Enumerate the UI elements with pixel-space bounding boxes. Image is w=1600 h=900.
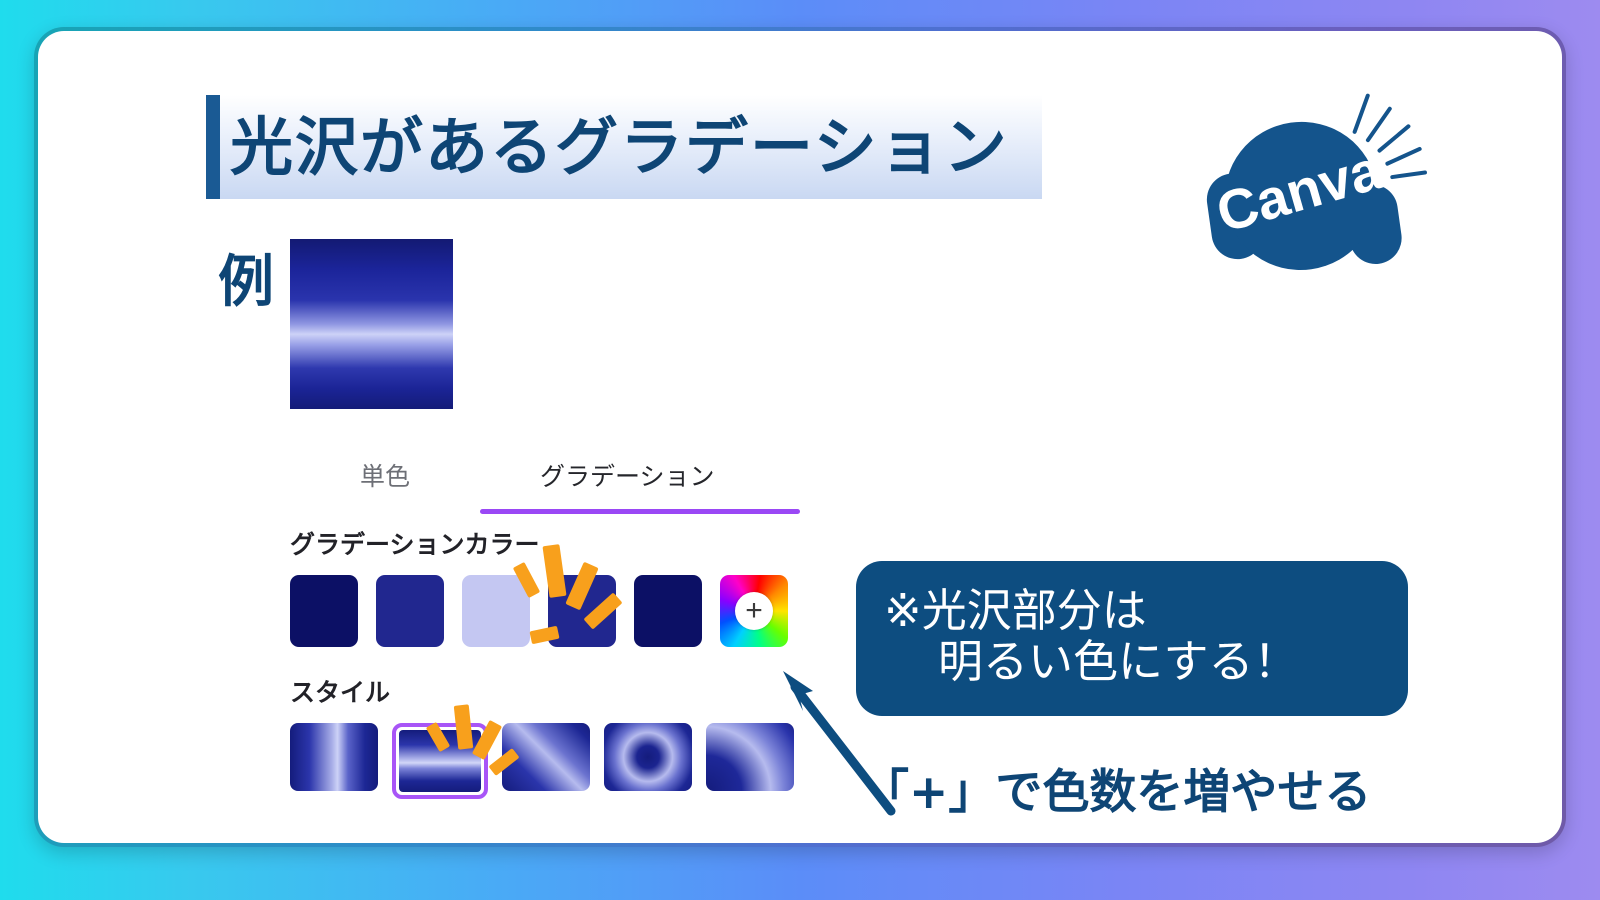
add-color-button[interactable]: +	[720, 575, 788, 647]
gradient-panel: 単色 グラデーション グラデーションカラー + スタイル	[290, 449, 810, 799]
style-label: スタイル	[290, 673, 810, 709]
bottom-note: 「+」で色数を増やせる	[862, 753, 1371, 822]
tab-active-underline	[480, 509, 800, 514]
callout-box: ※光沢部分は 明るい色にする！	[856, 561, 1408, 716]
color-swatch-3[interactable]	[462, 575, 530, 647]
gradient-style-thumbnails	[290, 723, 810, 799]
gradient-color-label: グラデーションカラー	[290, 525, 810, 561]
tab-solid-color[interactable]: 単色	[360, 457, 410, 493]
callout-line-1: ※光沢部分は	[856, 586, 1408, 636]
color-swatch-1[interactable]	[290, 575, 358, 647]
color-swatch-4[interactable]	[548, 575, 616, 647]
style-vertical[interactable]	[392, 723, 488, 799]
panel-tabs: 単色 グラデーション	[290, 449, 810, 511]
page-title: 光沢があるグラデーション	[220, 116, 1009, 179]
plus-icon: +	[735, 592, 773, 630]
style-radial[interactable]	[604, 723, 692, 791]
tab-gradient[interactable]: グラデーション	[540, 457, 715, 493]
page-title-banner: 光沢があるグラデーション	[206, 95, 1042, 199]
color-swatch-5[interactable]	[634, 575, 702, 647]
callout-line-2: 明るい色にする！	[856, 637, 1408, 687]
style-diagonal[interactable]	[502, 723, 590, 791]
color-swatch-2[interactable]	[376, 575, 444, 647]
style-horizontal[interactable]	[290, 723, 378, 791]
example-gradient-swatch	[290, 239, 453, 409]
example-label: 例	[218, 237, 274, 318]
title-accent-bar	[206, 95, 220, 199]
gradient-color-swatches: +	[290, 575, 810, 647]
slide-card: 光沢があるグラデーション Can	[34, 27, 1566, 847]
canva-logo: Canva	[1148, 89, 1438, 289]
